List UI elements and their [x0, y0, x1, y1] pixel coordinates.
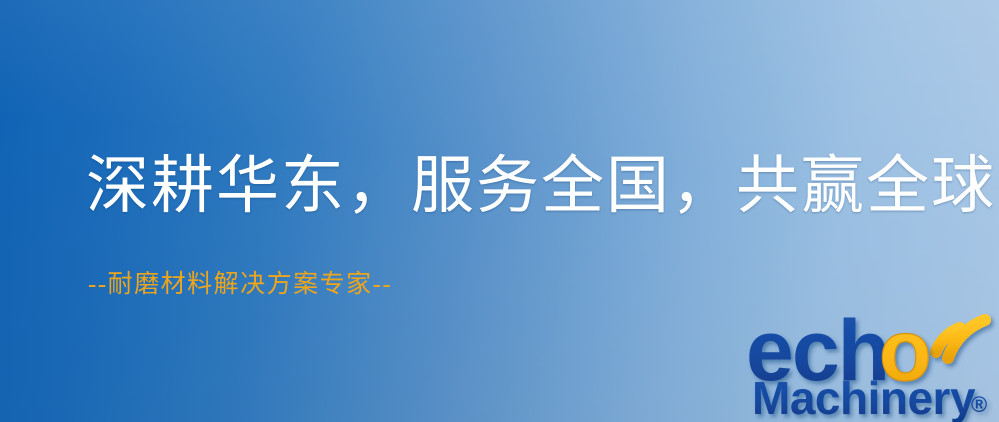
hero-banner: 深耕华东，服务全国，共赢全球 --耐磨材料解决方案专家--: [0, 0, 999, 422]
page-subtitle: --耐磨材料解决方案专家--: [88, 264, 392, 300]
signal-waves-icon: [936, 320, 985, 358]
page-title: 深耕华东，服务全国，共赢全球: [86, 150, 996, 222]
logo-registered-mark: ®: [971, 392, 987, 417]
logo-wordmark-machinery: Machinery: [752, 372, 976, 422]
echo-machinery-logo[interactable]: ech o Machinery ®: [748, 296, 999, 422]
